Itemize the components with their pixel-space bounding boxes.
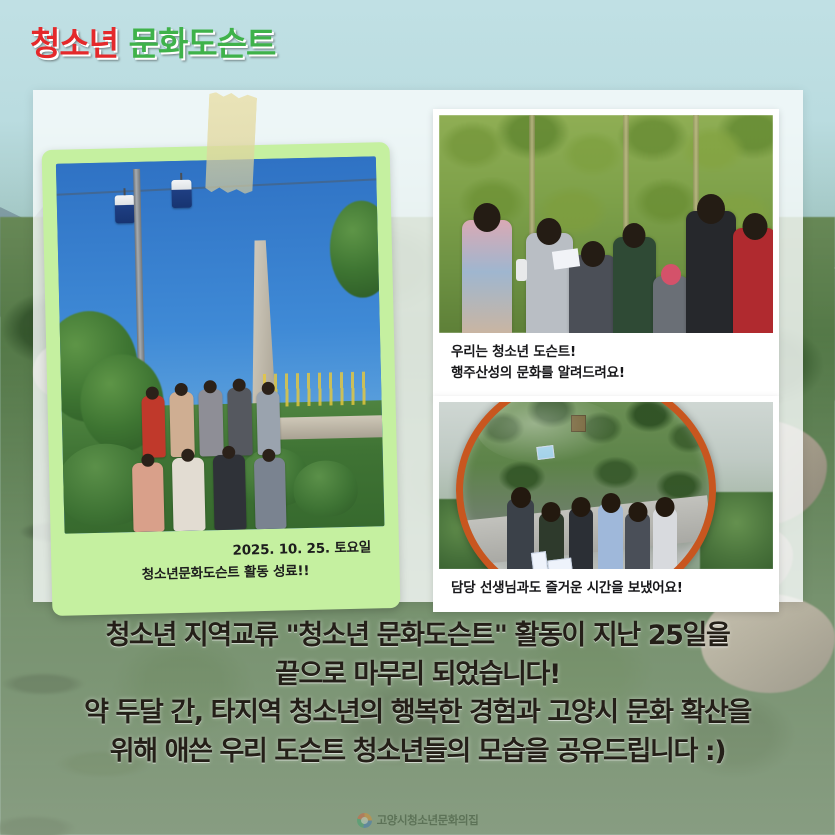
circle-logo-icon [357, 813, 372, 828]
student-head [697, 194, 725, 224]
student-head [655, 497, 674, 517]
caption-line-1: 담당 선생님과도 즐거운 시간을 보냈어요! [451, 578, 769, 599]
cable-car-icon [171, 179, 192, 207]
student-head [542, 502, 561, 522]
student-figure [526, 233, 573, 333]
washi-tape-icon [205, 92, 257, 194]
handout-paper [551, 248, 579, 269]
student-head [628, 502, 647, 522]
student-figure [653, 276, 690, 333]
page-title-green: 문화도슨트 [118, 24, 275, 63]
student-head [601, 493, 620, 513]
student-figure [686, 211, 736, 333]
caption-line-1: 우리는 청소년 도슨트! [451, 342, 769, 363]
footer-watermark: 고양시청소년문화의집 [0, 812, 835, 828]
student-head [581, 241, 605, 267]
student-figure [625, 513, 650, 569]
student-head [511, 487, 531, 508]
body-line-1: 청소년 지역교류 "청소년 문화도슨트" 활동이 지난 25일을 [24, 617, 811, 656]
mirror-glare [477, 402, 620, 464]
title-bar: 청소년 문화도슨트 [0, 0, 835, 82]
body-line-2: 끝으로 마무리 되었습니다! [24, 656, 811, 695]
photo-frame: 담당 선생님과도 즐거운 시간을 보냈어요! [433, 396, 779, 612]
student-figure [733, 228, 773, 333]
photo-caption-docent: 우리는 청소년 도슨트! 행주산성의 문화를 알려드려요! [439, 333, 773, 394]
student-figure [462, 220, 512, 333]
cable-car-icon [114, 195, 135, 223]
body-line-4: 위해 애쓴 우리 도슨트 청소년들의 모습을 공유드립니다 :) [24, 733, 811, 772]
page-title-red: 청소년 [30, 24, 118, 63]
student-head [537, 218, 562, 245]
watermark-text: 고양시청소년문화의집 [377, 812, 479, 828]
photo-caption-mirror: 담당 선생님과도 즐거운 시간을 보냈어요! [439, 569, 773, 608]
handout-paper [547, 557, 574, 569]
photo-block-mirror: 담당 선생님과도 즐거운 시간을 보냈어요! [433, 396, 779, 612]
caption-line-2: 행주산성의 문화를 알려드려요! [451, 363, 769, 384]
polaroid-card: 2025. 10. 25. 토요일 청소년문화도슨트 활동 성료!! [42, 142, 401, 616]
student-head [742, 213, 767, 240]
student-figure [613, 237, 656, 333]
photo-block-docent: 우리는 청소년 도슨트! 행주산성의 문화를 알려드려요! [433, 109, 779, 398]
microphone-icon [516, 259, 527, 281]
photo-docent-explaining [439, 115, 773, 333]
body-text: 청소년 지역교류 "청소년 문화도슨트" 활동이 지난 25일을 끝으로 마무리… [0, 617, 835, 771]
handout-paper [531, 551, 548, 569]
photo-frame: 우리는 청소년 도슨트! 행주산성의 문화를 알려드려요! [433, 109, 779, 398]
student-cap [661, 264, 681, 285]
student-figure [507, 499, 534, 569]
page-title: 청소년 문화도슨트 [30, 17, 275, 65]
polaroid-caption: 2025. 10. 25. 토요일 청소년문화도슨트 활동 성료!! [65, 537, 386, 588]
student-head [474, 203, 501, 232]
poster-canvas: 청소년 문화도슨트 [0, 0, 835, 835]
polaroid-photo [56, 156, 385, 533]
student-head [572, 497, 591, 517]
student-figure [598, 504, 623, 569]
student-head [623, 223, 646, 248]
photo-convex-mirror-selfie [439, 402, 773, 569]
student-figure [653, 508, 678, 569]
convex-mirror-icon [456, 402, 717, 569]
student-figure [569, 508, 594, 569]
body-line-3: 약 두달 간, 타지역 청소년의 행복한 경험과 고양시 문화 확산을 [24, 694, 811, 733]
polaroid-student-group-front [126, 439, 307, 532]
